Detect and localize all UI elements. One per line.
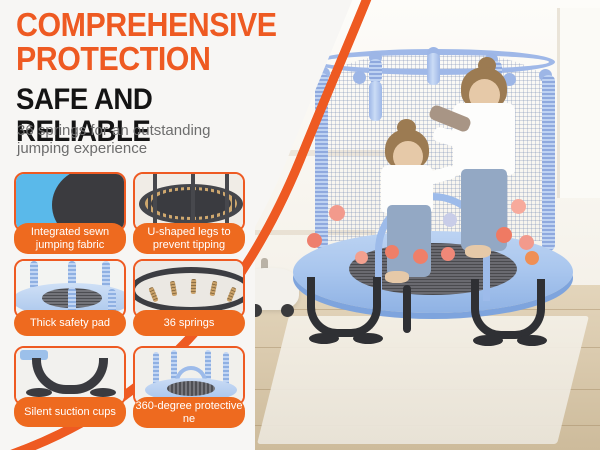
feature-label: U-shaped legs to prevent tipping bbox=[133, 223, 245, 254]
feature-card-suction-cups[interactable]: Silent suction cups bbox=[14, 346, 126, 427]
subtitle: 36 springs for an outstanding jumping ex… bbox=[17, 122, 267, 158]
u-shaped-leg bbox=[471, 279, 545, 339]
play-ball bbox=[496, 227, 512, 243]
play-ball bbox=[511, 199, 526, 214]
play-ball bbox=[443, 213, 457, 227]
play-ball bbox=[307, 233, 322, 248]
suction-cup-foot bbox=[353, 333, 383, 344]
play-ball bbox=[441, 247, 455, 261]
feature-card-u-shaped-legs[interactable]: U-shaped legs to prevent tipping bbox=[133, 172, 245, 254]
net-post bbox=[369, 81, 382, 121]
play-ball bbox=[413, 249, 428, 264]
net-post bbox=[427, 53, 440, 85]
play-ball bbox=[329, 205, 345, 221]
feature-label: Integrated sewn jumping fabric bbox=[14, 223, 126, 254]
suction-cup-foot bbox=[473, 335, 503, 346]
feature-card-jumping-fabric[interactable]: Integrated sewn jumping fabric bbox=[14, 172, 126, 254]
net-knob bbox=[353, 71, 366, 84]
feature-card-safety-pad[interactable]: Thick safety pad bbox=[14, 259, 126, 336]
trampoline bbox=[293, 45, 573, 390]
center-leg bbox=[403, 285, 411, 333]
feature-label: 36 springs bbox=[133, 310, 245, 336]
net-post bbox=[542, 75, 555, 251]
feature-card-protective-net[interactable]: 360-degree protective ne bbox=[133, 346, 245, 428]
headline-line-1: COMPREHENSIVE bbox=[16, 8, 274, 42]
net-post bbox=[315, 73, 328, 249]
page-title: COMPREHENSIVE PROTECTION bbox=[16, 8, 274, 76]
product-photo bbox=[255, 0, 600, 450]
suction-cup-foot bbox=[309, 333, 339, 344]
feature-label: 360-degree protective ne bbox=[133, 397, 245, 428]
headline-line-2: PROTECTION bbox=[16, 42, 274, 76]
left-panel: COMPREHENSIVE PROTECTION SAFE AND RELIAB… bbox=[0, 0, 300, 450]
u-shaped-leg bbox=[307, 277, 381, 337]
play-ball bbox=[385, 245, 399, 259]
play-ball bbox=[355, 251, 368, 264]
product-banner: COMPREHENSIVE PROTECTION SAFE AND RELIAB… bbox=[0, 0, 600, 450]
feature-label: Silent suction cups bbox=[14, 397, 126, 427]
feature-card-springs[interactable]: 36 springs bbox=[133, 259, 245, 336]
feature-label: Thick safety pad bbox=[14, 310, 126, 336]
play-ball bbox=[525, 251, 539, 265]
net-post bbox=[369, 59, 382, 83]
play-ball bbox=[519, 235, 534, 250]
suction-cup-foot bbox=[517, 335, 547, 346]
